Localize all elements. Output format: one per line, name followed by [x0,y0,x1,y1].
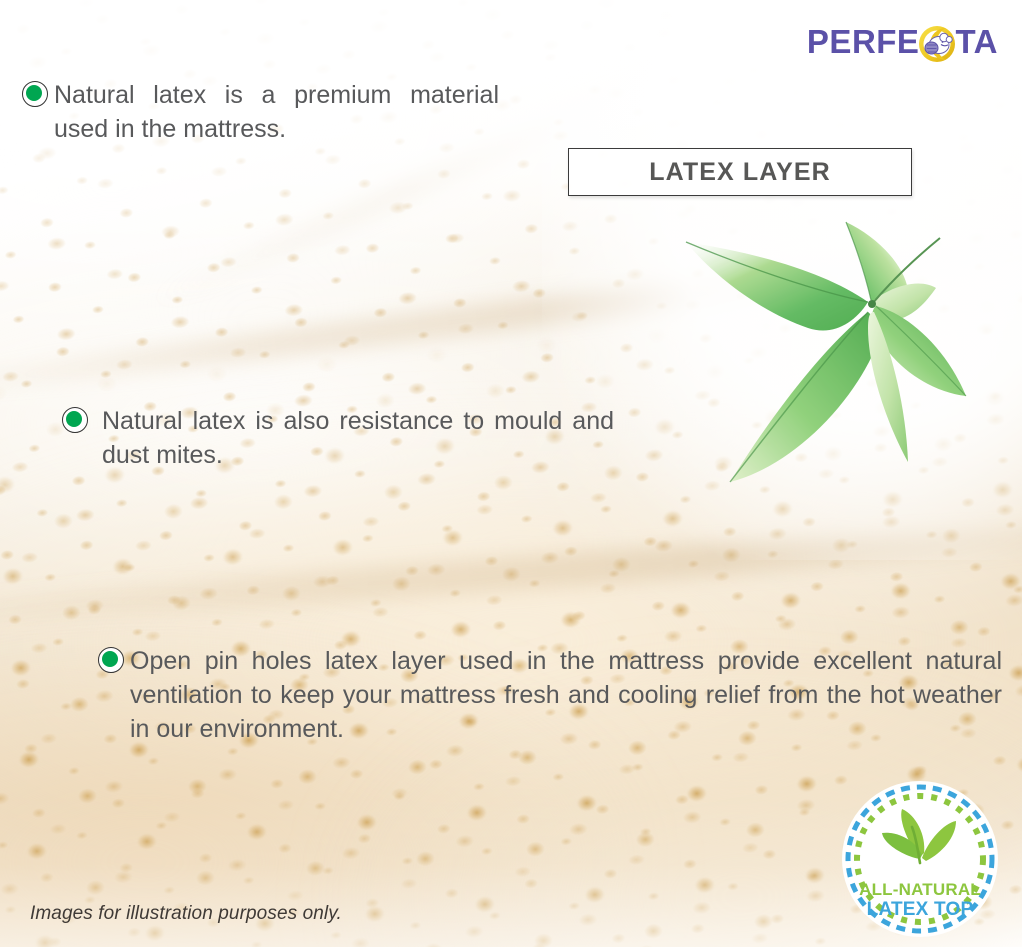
bullet-text-2: Natural latex is also resistance to moul… [102,404,614,472]
brand-name-part2: TA [955,25,998,58]
all-natural-latex-top-badge: ALL-NATURAL LATEX TOP [840,779,1000,939]
page-title: LATEX LAYER [649,158,831,187]
bullet-item-1: Natural latex is a premium material used… [22,78,522,146]
green-dot-bullet-icon [62,407,88,433]
crescent-moon-sleeping-koala-icon [917,24,957,64]
brand-logo: PERFE TA [807,20,998,68]
brand-name-part1: PERFE [807,25,920,58]
green-dot-bullet-icon [22,81,48,107]
bullet-item-2: Natural latex is also resistance to moul… [62,404,622,472]
top-right-white-veil [542,0,1022,560]
green-dot-bullet-icon [98,647,124,673]
bullet-item-3: Open pin holes latex layer used in the m… [98,644,1010,746]
bullet-text-3: Open pin holes latex layer used in the m… [130,644,1002,746]
latex-layer-title-box: LATEX LAYER [568,148,912,196]
bullet-text-1: Natural latex is a premium material used… [54,78,499,146]
brand-name: PERFE TA [807,24,998,64]
badge-line1: ALL-NATURAL [859,880,981,899]
disclaimer-text: Images for illustration purposes only. [30,903,342,925]
latex-layer-poster: PERFE TA LATEX [0,0,1022,947]
badge-line2: LATEX TOP [867,899,974,920]
